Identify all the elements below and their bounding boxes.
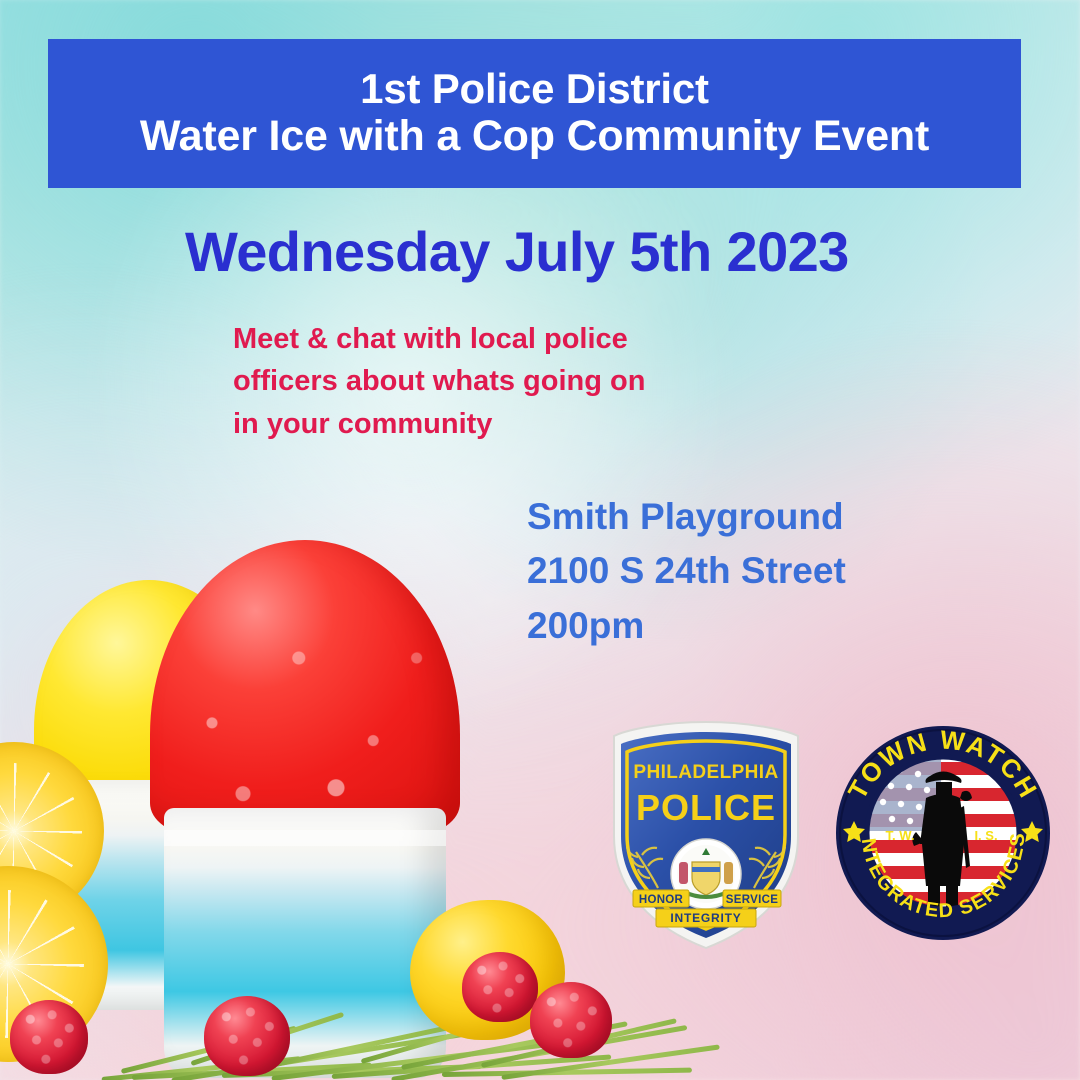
location-venue: Smith Playground: [527, 490, 846, 544]
badge-police-text: POLICE: [636, 787, 776, 828]
location-address: 2100 S 24th Street: [527, 544, 846, 598]
title-banner: 1st Police District Water Ice with a Cop…: [48, 39, 1021, 188]
badge-integrity-text: INTEGRITY: [670, 911, 741, 925]
badge-seal-figure-left: [679, 862, 688, 884]
location-time: 200pm: [527, 599, 846, 653]
town-watch-integrated-services-logo: TOWN WATCH INTEGRATED SERVICES T. W. I. …: [834, 724, 1052, 942]
townwatch-initials-right: I. S.: [974, 828, 997, 843]
event-date: Wednesday July 5th 2023: [185, 219, 849, 284]
townwatch-initials-left: T. W.: [886, 828, 915, 843]
description-line-3: in your community: [233, 403, 645, 445]
red-shaved-ice: [150, 540, 460, 835]
banner-title-line-1: 1st Police District: [360, 67, 709, 112]
description-line-2: officers about whats going on: [233, 360, 645, 402]
event-flyer: 1st Police District Water Ice with a Cop…: [0, 0, 1080, 1080]
badge-seal-figure-right: [724, 862, 733, 884]
banner-title-line-2: Water Ice with a Cop Community Event: [140, 114, 929, 160]
badge-service-text: SERVICE: [726, 894, 778, 906]
event-location: Smith Playground 2100 S 24th Street 200p…: [527, 490, 846, 653]
raspberry-icon: [10, 1000, 88, 1074]
raspberry-icon: [530, 982, 612, 1058]
raspberry-icon: [204, 996, 290, 1076]
badge-honor-text: HONOR: [639, 894, 684, 906]
description-line-1: Meet & chat with local police: [233, 318, 645, 360]
event-description: Meet & chat with local police officers a…: [233, 318, 645, 445]
badge-philadelphia-text: PHILADELPHIA: [633, 762, 778, 783]
philadelphia-police-badge-logo: PHILADELPHIA POLICE: [600, 716, 812, 954]
raspberry-icon: [462, 952, 538, 1022]
